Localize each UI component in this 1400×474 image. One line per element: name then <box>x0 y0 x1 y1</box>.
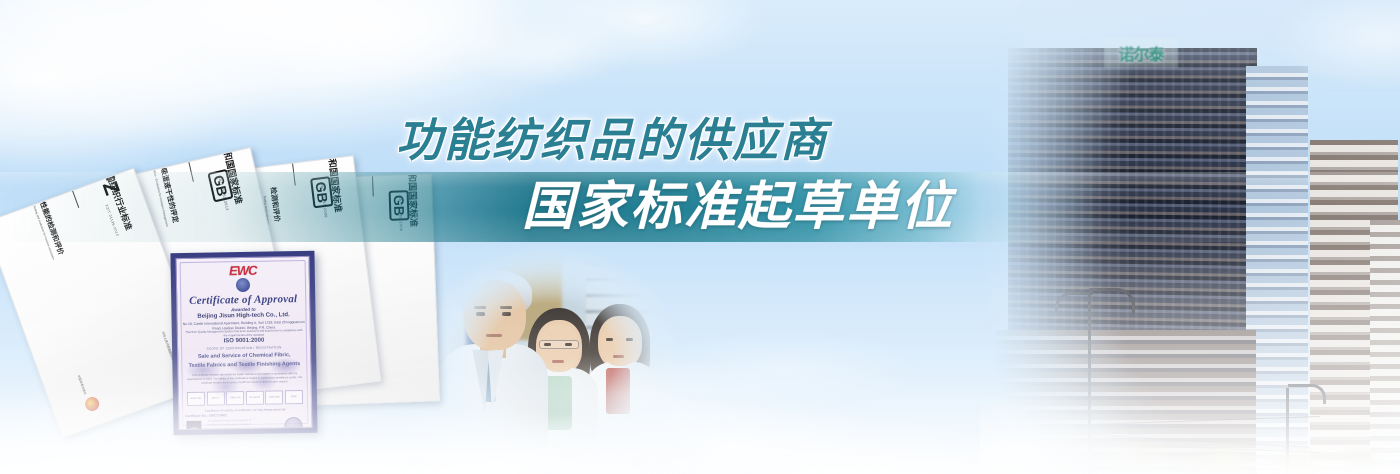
date-box-label: Issue 1 <box>212 397 220 400</box>
certificate-heading: Certificate of Approval <box>177 293 309 307</box>
researcher-1-brow-right <box>500 306 512 309</box>
date-box: EWC <box>285 390 303 404</box>
ewc-logo: EWC <box>177 262 309 279</box>
date-box-label: Re-issued <box>249 396 260 399</box>
researcher-1-brow-left <box>474 306 486 309</box>
publisher-seal-icon <box>83 395 101 413</box>
date-box: Issue Date <box>187 392 205 406</box>
office-building-photo: 诺尔泰 <box>950 0 1400 474</box>
divider <box>276 155 295 185</box>
researcher-2-shirt <box>544 376 572 430</box>
street-lamp-arm-right <box>1089 288 1135 314</box>
standards-and-certificates-group: GB 人民共和国国家标准 GB/T 21655-2008 检测和评价 Testi… <box>0 150 470 474</box>
date-box-label: Audit Date <box>269 396 280 399</box>
document-footer-left: 中国标准出版社 <box>77 374 88 395</box>
document-title: 人民共和国国家标准 <box>405 173 421 227</box>
street-lamp-2-arm <box>1288 384 1326 404</box>
researcher-3-eye-right <box>626 338 633 341</box>
date-box: Re-issued <box>246 391 264 405</box>
date-box-label: Valid Until <box>230 397 241 400</box>
headline-line-2: 国家标准起草单位 <box>522 178 954 236</box>
researcher-3-shirt <box>606 368 630 414</box>
rooftop-sign-label: 诺尔泰 <box>1118 41 1163 65</box>
researcher-2-eye-left <box>544 343 551 346</box>
certificate-date-boxes: Issue Date Issue 1 Valid Until Re-issued… <box>187 389 303 407</box>
accreditation-mark-icon: UKAS <box>186 421 201 430</box>
street-trees-right <box>1188 420 1388 474</box>
researcher-1-eye-left <box>476 312 485 316</box>
certificate-body-text: This certificate remains valid whilst th… <box>187 372 303 386</box>
date-box-label: Issue Date <box>190 397 201 400</box>
date-box: Issue 1 <box>206 391 224 405</box>
date-box-label: EWC <box>291 396 297 399</box>
divider <box>368 173 374 196</box>
researcher-3-face <box>601 320 639 366</box>
document-subtitle: 检测和评价 <box>268 187 282 223</box>
researcher-1-mouth <box>486 334 502 337</box>
rooftop-sign: 诺尔泰 <box>1104 38 1178 68</box>
document-subtitle: 纺织品 吸湿排汗性能的检测和评价 <box>20 168 66 257</box>
researcher-2-mouth <box>552 360 564 363</box>
company-hero-banner: 诺尔泰 <box>0 0 1400 474</box>
researcher-2-eye-right <box>565 343 572 346</box>
date-box: Valid Until <box>226 391 244 405</box>
researcher-3-eye-left <box>606 338 613 341</box>
researcher-1-head <box>464 280 526 350</box>
certificate-number: Certificate No.: EWC714002 <box>185 413 227 418</box>
researcher-1-eye-right <box>502 312 511 316</box>
ewc-certificate-of-approval: EWC Certificate of Approval Awarded to B… <box>170 251 317 435</box>
researcher-3-mouth <box>613 355 624 358</box>
date-box: Audit Date <box>265 390 283 404</box>
divider <box>27 168 79 208</box>
certificate-stamp-icon <box>284 417 302 430</box>
certificate-signature-block: Accreditation Member of the Registrar of… <box>207 419 251 430</box>
